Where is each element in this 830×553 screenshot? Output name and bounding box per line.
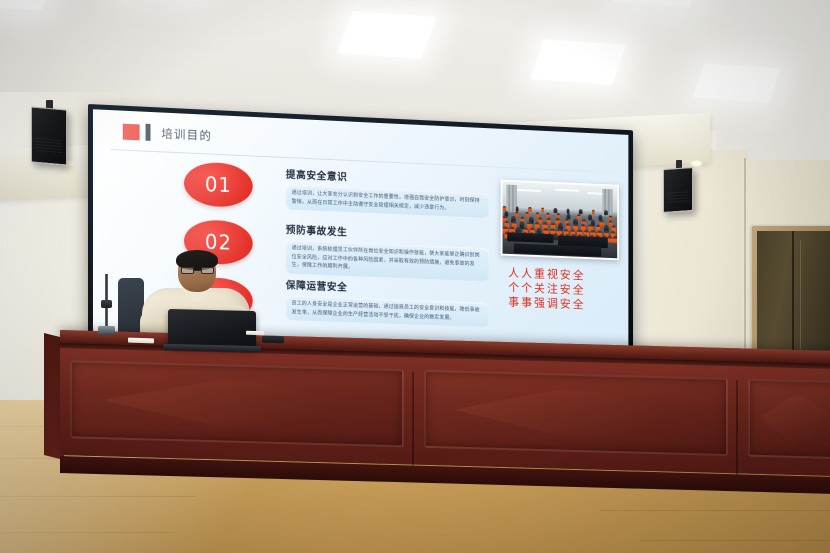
right-wall-speaker xyxy=(663,167,693,213)
podium-front xyxy=(60,348,830,476)
downlight-icon xyxy=(690,160,703,167)
ceiling-panel-light xyxy=(0,0,61,10)
ceiling-panel-light xyxy=(612,0,700,7)
photo-attendee xyxy=(592,210,595,215)
desk-device xyxy=(262,336,284,344)
slide-section: 提高安全意识 通过培训，让大家充分认识到安全工作的重要性，增强自我安全防护意识，… xyxy=(286,166,490,218)
podium xyxy=(60,330,830,476)
photo-attendee xyxy=(541,208,544,213)
podium-panel xyxy=(70,360,404,447)
photo-attendee xyxy=(613,235,617,243)
section-body: 员工的人身安全是企业正常运营的基础，通过提高员工的安全意识和技能，降低事故发生率… xyxy=(286,295,490,327)
ceiling-panel-light xyxy=(337,11,436,59)
microphone-mount xyxy=(101,300,112,308)
door-center-split xyxy=(792,231,794,366)
laptop[interactable] xyxy=(168,309,256,349)
microphone-base xyxy=(98,326,115,335)
left-wall-speaker xyxy=(31,106,67,165)
podium-seam xyxy=(736,380,738,484)
desk-paper xyxy=(128,338,154,344)
podium-diamond-molding xyxy=(102,373,373,434)
speaker-grille xyxy=(667,191,688,203)
desk-paper xyxy=(246,331,264,335)
podium-seam xyxy=(412,372,414,476)
slide-title: 培训目的 xyxy=(161,125,212,143)
ceiling-panel-light xyxy=(530,39,626,85)
podium-panel xyxy=(424,370,728,456)
podium-diamond-molding xyxy=(453,383,699,443)
section-body: 通过培训，系统梳理员工伙伴所在岗位安全知识和操作技能，使大家能够正确识别岗位安全… xyxy=(286,240,490,281)
speaker-grille xyxy=(36,138,62,154)
navy-bar-icon xyxy=(146,124,151,141)
door-bevel xyxy=(800,240,801,358)
slogan-line: 事事强调安全 xyxy=(508,295,585,313)
podium-diamond-molding xyxy=(759,391,830,446)
wall-corner-line xyxy=(744,158,746,364)
ceiling-panel-light xyxy=(693,63,780,102)
section-number-oval: 01 xyxy=(184,161,253,208)
photo-attendee xyxy=(577,214,581,220)
red-square-marker-icon xyxy=(123,123,140,140)
slide-photo xyxy=(501,179,619,260)
slide-section: 预防事故发生 通过培训，系统梳理员工伙伴所在岗位安全知识和操作技能，使大家能够正… xyxy=(286,221,490,281)
photo-attendee xyxy=(528,207,531,212)
section-body: 通过培训，让大家充分认识到安全工作的重要性，增强自我安全防护意识，时刻保持警惕，… xyxy=(286,185,490,218)
slide-slogan: 人人重视安全 个个关注安全 事事强调安全 xyxy=(508,266,585,313)
slide-title-row: 培训目的 xyxy=(123,123,212,144)
presentation-room-photo: 培训目的 01 02 03 提高安全意识 通过培训，让大家充分认识到安全工作的重… xyxy=(0,0,830,553)
podium-panel xyxy=(748,379,830,460)
glasses-icon xyxy=(181,267,214,274)
photo-attendee xyxy=(600,220,604,227)
slide-section: 保障运营安全 员工的人身安全是企业正常运营的基础，通过提高员工的安全意识和技能，… xyxy=(286,277,490,328)
photo-attendee xyxy=(605,210,608,215)
